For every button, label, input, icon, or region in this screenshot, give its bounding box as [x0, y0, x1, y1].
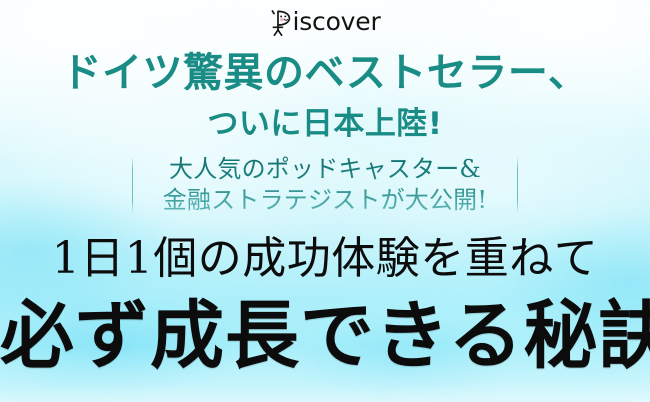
brand-logo: iscover — [0, 6, 650, 36]
headline-line-2: ついに日本上陸! — [0, 104, 650, 144]
headline-line-1: ドイツ驚異のベストセラー、 — [0, 47, 650, 99]
main-copy-line-1: 1日1個の成功体験を重ねて — [0, 231, 650, 287]
brand-wordmark: iscover — [292, 9, 380, 34]
subtitle-rule-right — [517, 158, 518, 212]
promo-banner: iscover ドイツ驚異のベストセラー、 ついに日本上陸! 大人気のポッドキャ… — [0, 0, 650, 402]
subtitle-text: 大人気のポッドキャスター& 金融ストラテジストが大公開! — [163, 154, 487, 216]
subtitle-line-2: 金融ストラテジストが大公開! — [163, 185, 487, 216]
main-copy-line-2: 必ず成長できる秘訣 — [0, 288, 650, 384]
subtitle-rule-left — [132, 158, 133, 212]
banner-content: iscover ドイツ驚異のベストセラー、 ついに日本上陸! 大人気のポッドキャ… — [0, 0, 650, 402]
subtitle-line-1: 大人気のポッドキャスター& — [163, 154, 487, 185]
subtitle-block: 大人気のポッドキャスター& 金融ストラテジストが大公開! — [0, 152, 650, 218]
